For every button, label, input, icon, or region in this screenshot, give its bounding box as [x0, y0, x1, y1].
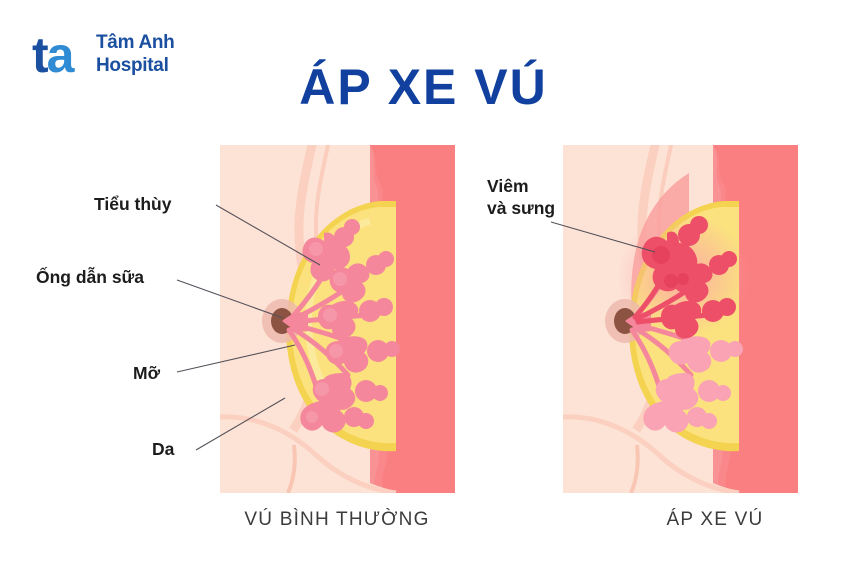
caption-breast-abscess: ÁP XE VÚ: [545, 508, 847, 532]
infographic-page: ta Tâm Anh Hospital ÁP XE VÚ: [0, 0, 847, 575]
illustration-normal-breast: [220, 145, 455, 493]
caption-normal-breast: VÚ BÌNH THƯỜNG: [167, 508, 507, 532]
label-lobule: Tiểu thùy: [94, 193, 171, 215]
label-inflammation-swelling: Viêm và sưng: [487, 175, 555, 219]
label-fat: Mỡ: [133, 362, 160, 384]
logo-line-1: Tâm Anh: [96, 31, 222, 54]
page-title: ÁP XE VÚ: [0, 58, 847, 116]
label-milk-duct: Ống dẫn sữa: [36, 266, 144, 288]
label-skin: Da: [152, 438, 174, 460]
illustration-breast-abscess: [563, 145, 798, 493]
